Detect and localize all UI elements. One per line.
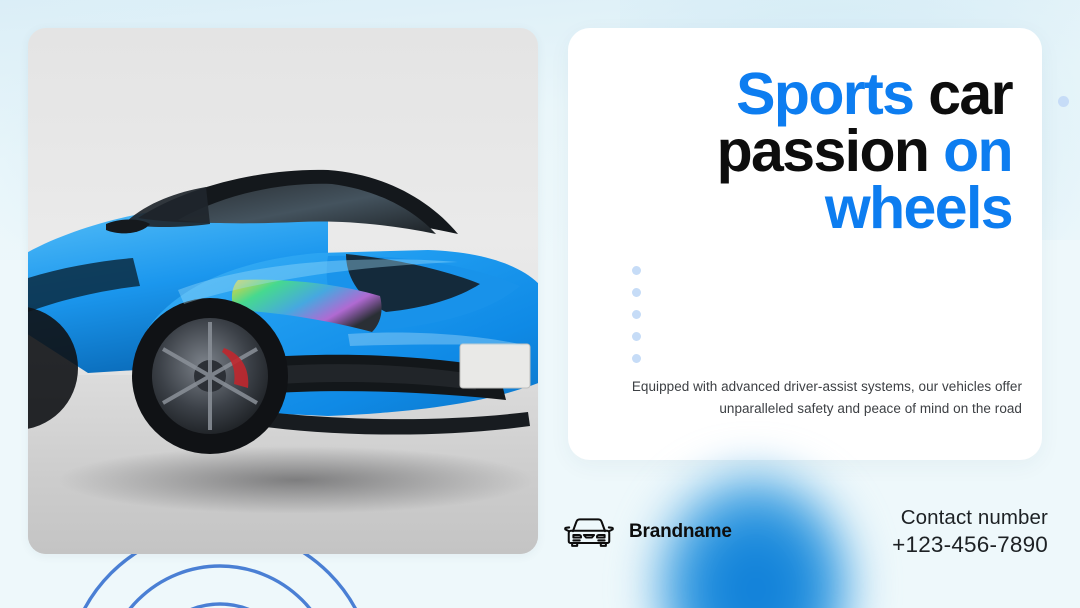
dot-column-decoration — [632, 266, 641, 363]
edge-dot-decoration — [1058, 96, 1069, 107]
poster-canvas: Sports car passion on wheels Equipped wi… — [0, 0, 1080, 608]
contact-block[interactable]: Contact number +123-456-7890 — [892, 505, 1048, 560]
headline-line-1: Sports car — [598, 66, 1012, 123]
headline-word-on: on — [928, 118, 1012, 184]
headline-word-wheels: wheels — [825, 175, 1012, 241]
headline-line-3: wheels — [598, 180, 1012, 237]
headline-line-2: passion on — [598, 123, 1012, 180]
contact-number[interactable]: +123-456-7890 — [892, 531, 1048, 560]
car-photo-inner — [28, 28, 538, 554]
headline-word-car: car — [913, 61, 1012, 127]
contact-label: Contact number — [892, 505, 1048, 531]
car-front-wheel — [132, 298, 288, 454]
body-paragraph: Equipped with advanced driver-assist sys… — [620, 376, 1022, 420]
decor-dot — [632, 354, 641, 363]
brand-name: Brandname — [629, 521, 732, 543]
car-illustration — [28, 28, 538, 554]
brand-lockup[interactable]: Brandname — [562, 515, 732, 549]
headline-word-sports: Sports — [736, 61, 913, 127]
car-front-icon — [562, 515, 616, 549]
page-title: Sports car passion on wheels — [598, 66, 1012, 238]
license-plate — [460, 344, 530, 388]
decor-dot — [632, 310, 641, 319]
decor-dot — [632, 332, 641, 341]
car-photo — [28, 28, 538, 554]
decor-dot — [632, 266, 641, 275]
headline-card: Sports car passion on wheels Equipped wi… — [568, 28, 1042, 460]
decor-dot — [632, 288, 641, 297]
headline-word-passion: passion — [717, 118, 929, 184]
